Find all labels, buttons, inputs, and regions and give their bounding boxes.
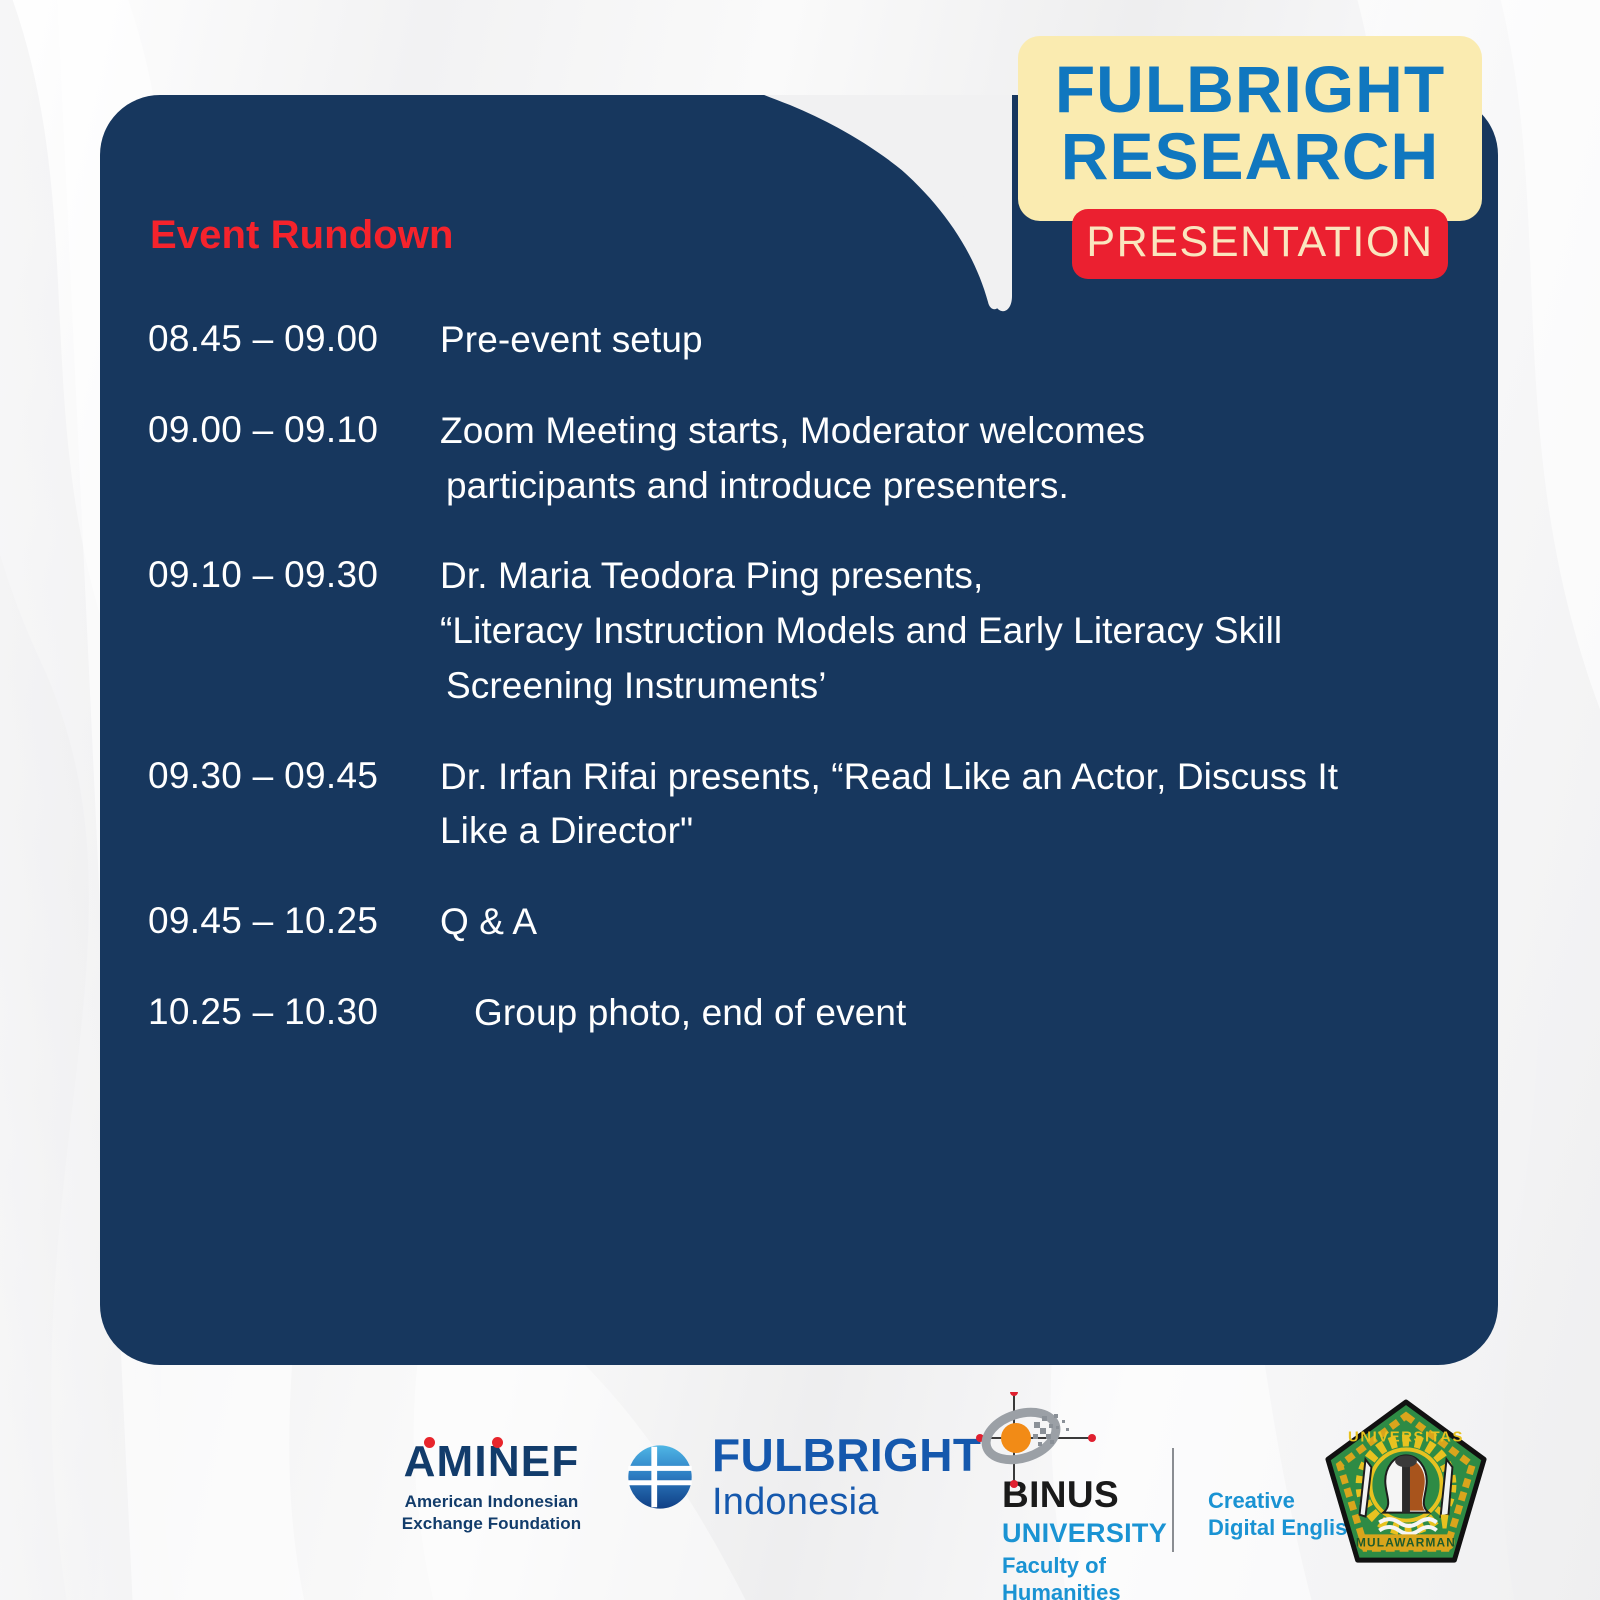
page-title: Event Rundown [150, 213, 454, 258]
schedule-row: 09.10 – 09.30 Dr. Maria Teodora Ping pre… [148, 549, 1488, 713]
schedule-time: 09.00 – 09.10 [148, 404, 440, 457]
fulbright-wordmark: FULBRIGHT [712, 1432, 981, 1478]
footer-divider [1172, 1448, 1174, 1552]
aminef-dot-icon [424, 1437, 435, 1448]
mulawarman-crest-icon: UNIVERSITAS MULAWARMAN [1322, 1398, 1490, 1570]
schedule-line: Like a Director" [440, 804, 1488, 859]
schedule-row: 08.45 – 09.00 Pre-event setup [148, 313, 1488, 368]
binus-university-label: UNIVERSITY [1002, 1519, 1167, 1549]
aminef-subtitle-line-1: American Indonesian [384, 1491, 599, 1513]
fulbright-logo: FULBRIGHT Indonesia [624, 1432, 981, 1521]
schedule-description: Q & A [440, 895, 1488, 950]
aminef-subtitle: American Indonesian Exchange Foundation [384, 1491, 599, 1535]
schedule-line: Group photo, end of event [474, 986, 1488, 1041]
aminef-dot-icon [492, 1437, 503, 1448]
binus-faculty-line-2: Humanities [1002, 1580, 1167, 1600]
schedule-time: 09.30 – 09.45 [148, 750, 440, 803]
title-line-2: RESEARCH [1018, 123, 1482, 190]
title-badge-red: PRESENTATION [1072, 209, 1448, 279]
crest-top-text: UNIVERSITAS [1348, 1430, 1464, 1446]
schedule-line: Screening Instruments’ [440, 659, 1488, 714]
schedule-time: 08.45 – 09.00 [148, 313, 440, 366]
title-badge-label: PRESENTATION [1072, 220, 1448, 266]
schedule-line: participants and introduce presenters. [440, 459, 1488, 514]
schedule-row: 09.00 – 09.10 Zoom Meeting starts, Moder… [148, 404, 1488, 514]
schedule-description: Dr. Maria Teodora Ping presents, “Litera… [440, 549, 1488, 713]
schedule-row: 09.30 – 09.45 Dr. Irfan Rifai presents, … [148, 750, 1488, 860]
fulbright-subtitle: Indonesia [712, 1483, 981, 1521]
schedule-line: “Literacy Instruction Models and Early L… [440, 604, 1488, 659]
schedule-row: 09.45 – 10.25 Q & A [148, 895, 1488, 950]
schedule-row: 10.25 – 10.30 Group photo, end of event [148, 986, 1488, 1041]
fulbright-wordmark-block: FULBRIGHT Indonesia [712, 1432, 981, 1521]
schedule-time: 10.25 – 10.30 [148, 986, 440, 1039]
schedule-description: Zoom Meeting starts, Moderator welcomes … [440, 404, 1488, 514]
binus-faculty-label: Faculty of Humanities [1002, 1553, 1167, 1600]
binus-atom-icon [976, 1392, 1096, 1478]
fulbright-globe-icon [624, 1441, 696, 1513]
schedule-line: Zoom Meeting starts, Moderator welcomes [440, 404, 1488, 459]
schedule-line: Dr. Maria Teodora Ping presents, [440, 549, 1488, 604]
aminef-subtitle-line-2: Exchange Foundation [384, 1513, 599, 1535]
aminef-wordmark-row: AMINEF [384, 1440, 599, 1484]
schedule-list: 08.45 – 09.00 Pre-event setup 09.00 – 09… [148, 313, 1488, 1077]
schedule-description: Group photo, end of event [440, 986, 1488, 1041]
binus-logo: BINUS UNIVERSITY Faculty of Humanities [980, 1392, 1167, 1600]
binus-faculty-line-1: Faculty of [1002, 1553, 1167, 1580]
schedule-time: 09.45 – 10.25 [148, 895, 440, 948]
schedule-line: Dr. Irfan Rifai presents, “Read Like an … [440, 750, 1488, 805]
crest-bottom-text: MULAWARMAN [1356, 1535, 1456, 1549]
poster-canvas: Event Rundown 08.45 – 09.00 Pre-event se… [0, 0, 1600, 1600]
schedule-time: 09.10 – 09.30 [148, 549, 440, 602]
aminef-logo: AMINEF American Indonesian Exchange Foun… [384, 1440, 599, 1535]
title-badge-yellow: FULBRIGHT RESEARCH [1018, 36, 1482, 221]
schedule-description: Dr. Irfan Rifai presents, “Read Like an … [440, 750, 1488, 860]
schedule-line: Q & A [440, 895, 1488, 950]
schedule-description: Pre-event setup [440, 313, 1488, 368]
rundown-card-content: Event Rundown 08.45 – 09.00 Pre-event se… [100, 95, 1498, 1367]
schedule-line: Pre-event setup [440, 313, 1488, 368]
title-line-1: FULBRIGHT [1018, 56, 1482, 123]
